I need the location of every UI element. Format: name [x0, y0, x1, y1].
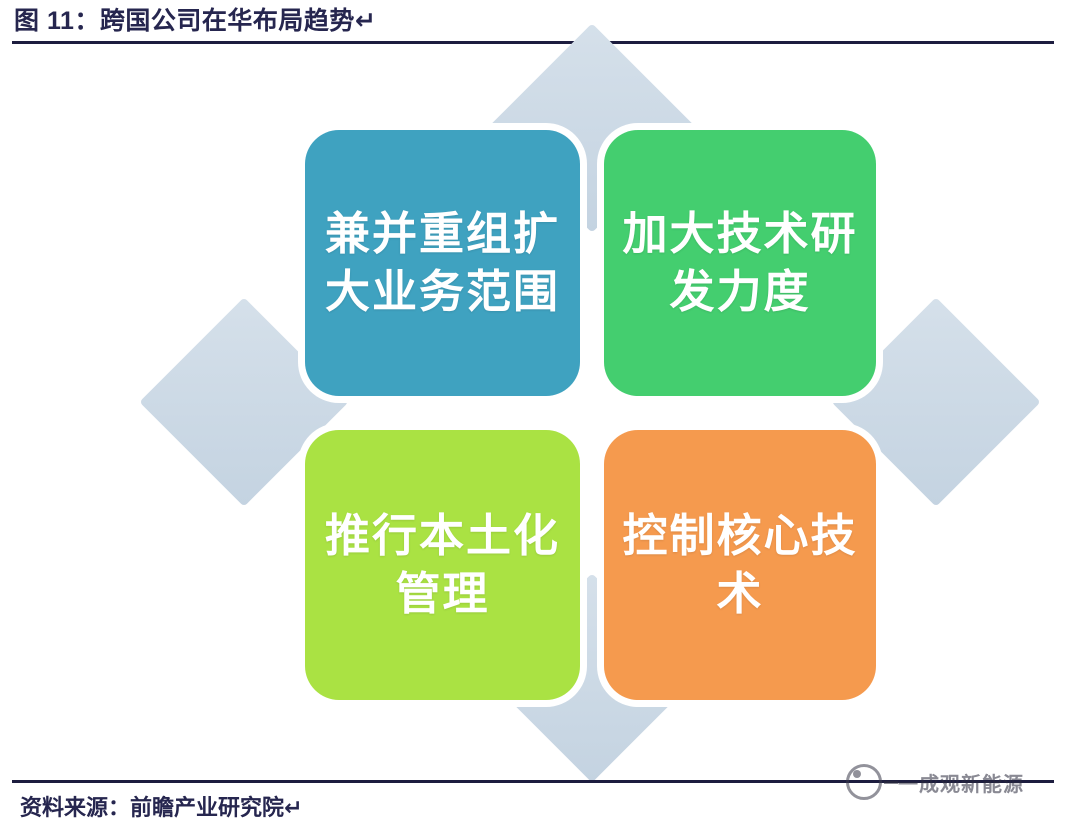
figure-page: 图 11：跨国公司在华布局趋势↵ 兼并重组扩大业务范围 加大技术研发力度 推行本…	[0, 0, 1066, 834]
diagram-box-bottom-right[interactable]: 控制核心技术	[604, 430, 876, 700]
diagram-box-bottom-left[interactable]: 推行本土化管理	[305, 430, 580, 700]
diagram-box-bottom-left-label: 推行本土化管理	[319, 507, 567, 622]
source-label: 资料来源：前瞻产业研究院↵	[20, 792, 302, 824]
watermark-label: 一成观新能源	[898, 768, 1024, 797]
diagram-canvas: 兼并重组扩大业务范围 加大技术研发力度 推行本土化管理 控制核心技术	[0, 48, 1066, 760]
diagram-box-top-left-label: 兼并重组扩大业务范围	[319, 205, 567, 320]
diagram-box-top-right-label: 加大技术研发力度	[618, 205, 863, 320]
diagram-box-top-left[interactable]: 兼并重组扩大业务范围	[305, 130, 580, 396]
circle-logo-icon	[846, 764, 882, 800]
page-title: 图 11：跨国公司在华布局趋势↵	[14, 4, 1014, 38]
diagram-box-bottom-right-label: 控制核心技术	[618, 507, 863, 622]
watermark-dash	[884, 781, 898, 784]
watermark: 一成观新能源	[846, 762, 1056, 802]
header-divider	[12, 41, 1054, 44]
diagram-box-top-right[interactable]: 加大技术研发力度	[604, 130, 876, 396]
